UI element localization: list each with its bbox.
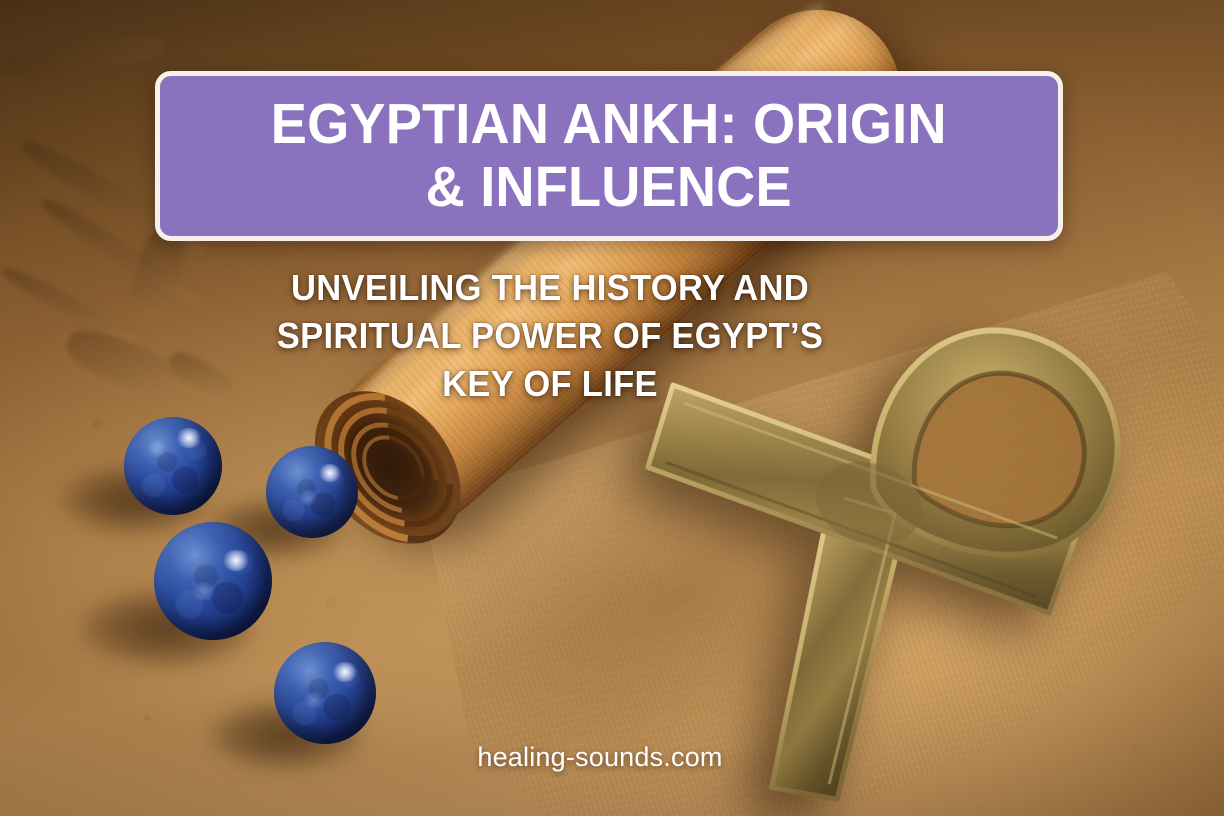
title-banner: EGYPTIAN ANKH: ORIGIN & INFLUENCE	[155, 71, 1063, 241]
site-watermark: healing-sounds.com	[0, 742, 1200, 773]
page-title: EGYPTIAN ANKH: ORIGIN & INFLUENCE	[256, 93, 962, 218]
hero-banner-image: EGYPTIAN ANKH: ORIGIN & INFLUENCE UNVEIL…	[0, 0, 1224, 816]
subtitle-text: UNVEILING THE HISTORY AND SPIRITUAL POWE…	[166, 264, 934, 408]
